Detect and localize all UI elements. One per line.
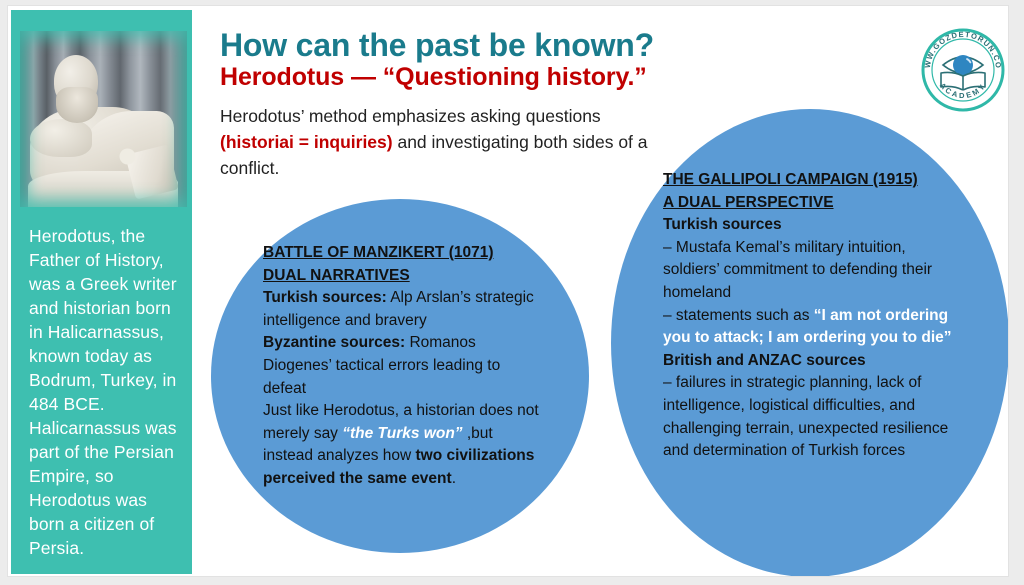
slide-canvas: Herodotus, the Father of History, was a … [8,6,1008,576]
manzikert-conclusion-end: . [452,470,456,487]
intro-paragraph: Herodotus’ method emphasizes asking ques… [220,103,660,181]
page-title: How can the past be known? [220,27,654,64]
manzikert-text-block: BATTLE OF MANZIKERT (1071) DUAL NARRATIV… [263,242,539,491]
gallipoli-text-block: THE GALLIPOLI CAMPAIGN (1915) A DUAL PER… [663,169,953,463]
sidebar-caption-text: Herodotus, the Father of History, was a … [29,224,179,560]
manzikert-heading-1: BATTLE OF MANZIKERT (1071) [263,242,539,265]
sidebar-panel: Herodotus, the Father of History, was a … [11,10,192,574]
gallipoli-statements-lead: – statements such as [663,307,814,324]
manzikert-byzantine-label: Byzantine sources: [263,334,405,351]
academy-logo: WWW.GOZDETORUN.COM ACADEMY [919,26,1007,114]
manzikert-quote: “the Turks won” [342,425,462,442]
gallipoli-turkish-body: – Mustafa Kemal’s military intuition, so… [663,237,953,305]
manzikert-heading-2: DUAL NARRATIVES [263,265,539,288]
gallipoli-heading-1: THE GALLIPOLI CAMPAIGN (1915) [663,169,953,192]
gallipoli-anzac-body: – failures in strategic planning, lack o… [663,372,953,462]
manzikert-byzantine-sources: Byzantine sources: Romanos Diogenes’ tac… [263,332,539,400]
manzikert-conclusion: Just like Herodotus, a historian does no… [263,400,539,490]
statue-of-herodotus-image [20,31,187,207]
manzikert-turkish-label: Turkish sources: [263,289,387,306]
intro-highlight: (historiai = inquiries) [220,132,393,152]
image-vignette [20,31,187,207]
gallipoli-anzac-label: British and ANZAC sources [663,350,953,373]
gallipoli-heading-2: A DUAL PERSPECTIVE [663,192,953,215]
gallipoli-turkish-label: Turkish sources [663,214,953,237]
page-subtitle: Herodotus — “Questioning history.” [220,63,647,92]
intro-text-part1: Herodotus’ method emphasizes asking ques… [220,106,601,126]
manzikert-turkish-sources: Turkish sources: Alp Arslan’s strategic … [263,287,539,332]
gallipoli-statements: – statements such as “I am not ordering … [663,305,953,350]
